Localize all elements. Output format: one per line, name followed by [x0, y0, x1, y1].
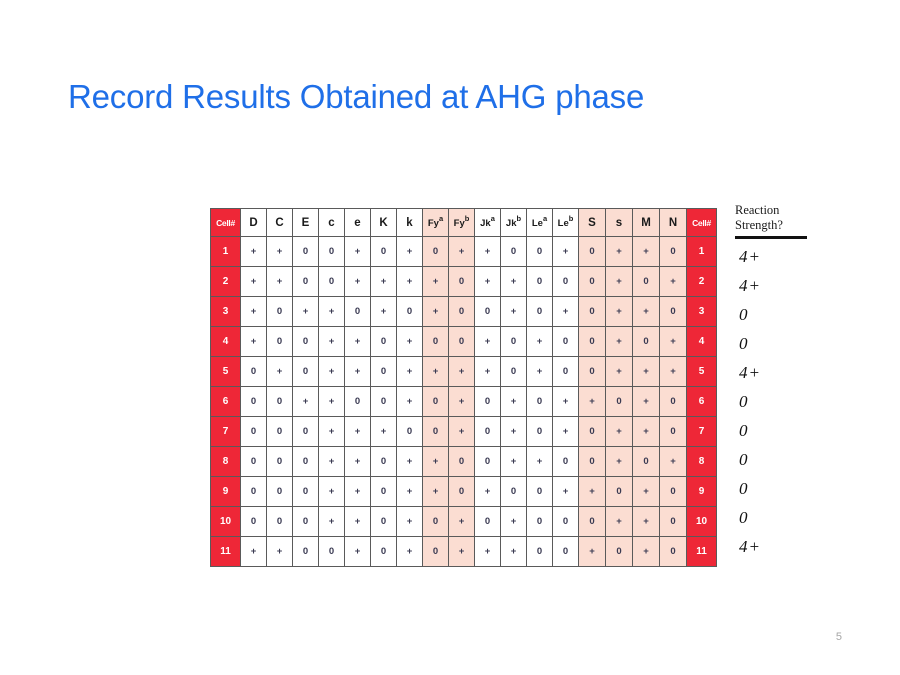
antigen-cell-c: 0: [319, 237, 345, 267]
row-cell-number-right: 7: [687, 417, 717, 447]
antigen-cell-M: 0: [633, 327, 660, 357]
table-row: 4+00++0+00+0+00+0+4: [211, 327, 717, 357]
antigen-cell-Lea: +: [527, 327, 553, 357]
antigen-cell-K: 0: [371, 237, 397, 267]
antigen-cell-Fyb: +: [449, 507, 475, 537]
antigen-cell-Fya: +: [423, 447, 449, 477]
antigen-cell-k: +: [397, 477, 423, 507]
antigen-cell-N: 0: [660, 507, 687, 537]
antigen-cell-Fyb: 0: [449, 327, 475, 357]
table-row: 10000++0+0+0+000++010: [211, 507, 717, 537]
antigen-cell-C: 0: [267, 387, 293, 417]
antigen-cell-S: +: [579, 387, 606, 417]
antigen-cell-Fyb: +: [449, 387, 475, 417]
antigen-cell-Jkb: 0: [501, 327, 527, 357]
antigen-cell-N: +: [660, 357, 687, 387]
antigen-cell-Jka: 0: [475, 417, 501, 447]
antigen-cell-k: +: [397, 267, 423, 297]
row-cell-number-right: 10: [687, 507, 717, 537]
antigen-cell-e: +: [345, 237, 371, 267]
column-header-M: M: [633, 209, 660, 237]
column-header-cellnum-left: Cell#: [211, 209, 241, 237]
column-header-K: K: [371, 209, 397, 237]
antigen-cell-Leb: +: [553, 417, 579, 447]
antigen-cell-N: 0: [660, 537, 687, 567]
reaction-values-list: 4+4+004+000004+: [735, 242, 843, 561]
row-cell-number-right: 3: [687, 297, 717, 327]
antigen-cell-Lea: 0: [527, 537, 553, 567]
antigen-cell-K: +: [371, 417, 397, 447]
reaction-strength-value: 4+: [735, 242, 843, 271]
antigen-cell-Fyb: +: [449, 417, 475, 447]
table-body: 1++00+0+0++00+0++012++00++++0++000+0+23+…: [211, 237, 717, 567]
antigen-cell-Leb: 0: [553, 327, 579, 357]
antigen-cell-Jka: +: [475, 237, 501, 267]
antigen-cell-k: +: [397, 357, 423, 387]
antigen-cell-Leb: 0: [553, 357, 579, 387]
reaction-strength-value: 0: [735, 445, 843, 474]
antigen-cell-D: 0: [241, 477, 267, 507]
row-cell-number-left: 6: [211, 387, 241, 417]
antigen-cell-k: +: [397, 237, 423, 267]
row-cell-number-left: 3: [211, 297, 241, 327]
antigen-cell-Fya: 0: [423, 237, 449, 267]
reaction-strength-value: 4+: [735, 271, 843, 300]
header-row: Cell#DCEceKkFyaFybJkaJkbLeaLebSsMNCell#: [211, 209, 717, 237]
antigen-cell-Jkb: +: [501, 297, 527, 327]
antigen-cell-Lea: +: [527, 447, 553, 477]
antigen-cell-Fya: +: [423, 297, 449, 327]
antigen-cell-S: +: [579, 477, 606, 507]
reaction-strength-value: 0: [735, 416, 843, 445]
antigen-cell-N: 0: [660, 387, 687, 417]
antigen-cell-Fyb: 0: [449, 267, 475, 297]
antigen-cell-k: +: [397, 507, 423, 537]
antigen-cell-C: 0: [267, 447, 293, 477]
antigen-cell-Jkb: +: [501, 387, 527, 417]
antigen-cell-E: 0: [293, 477, 319, 507]
column-header-e: e: [345, 209, 371, 237]
antigen-cell-M: +: [633, 477, 660, 507]
antigen-cell-E: 0: [293, 327, 319, 357]
antigen-cell-c: +: [319, 357, 345, 387]
table-header: Cell#DCEceKkFyaFybJkaJkbLeaLebSsMNCell#: [211, 209, 717, 237]
antigen-cell-e: +: [345, 537, 371, 567]
antigen-cell-D: +: [241, 297, 267, 327]
antigen-cell-M: 0: [633, 447, 660, 477]
antigen-cell-k: +: [397, 447, 423, 477]
antigen-cell-Fyb: +: [449, 537, 475, 567]
table-row: 2++00++++0++000+0+2: [211, 267, 717, 297]
antigen-cell-Fya: +: [423, 477, 449, 507]
antigen-cell-N: 0: [660, 417, 687, 447]
antigen-cell-s: 0: [606, 537, 633, 567]
antigen-cell-Jka: +: [475, 327, 501, 357]
antigen-cell-e: 0: [345, 387, 371, 417]
antigen-cell-E: 0: [293, 537, 319, 567]
antigen-cell-D: +: [241, 267, 267, 297]
antigen-cell-Leb: 0: [553, 507, 579, 537]
antigen-cell-Leb: 0: [553, 537, 579, 567]
antigen-cell-s: +: [606, 267, 633, 297]
table-row: 50+0++0++++0+00+++5: [211, 357, 717, 387]
antigen-cell-Lea: 0: [527, 387, 553, 417]
antigen-cell-c: 0: [319, 537, 345, 567]
reaction-header-line2: Strength?: [735, 218, 843, 233]
antigen-cell-s: 0: [606, 387, 633, 417]
reaction-strength-value: 4+: [735, 532, 843, 561]
table-row: 600++00+0+0+0++0+06: [211, 387, 717, 417]
row-cell-number-left: 11: [211, 537, 241, 567]
antigen-cell-Lea: 0: [527, 237, 553, 267]
column-header-s: s: [606, 209, 633, 237]
antigen-cell-Fya: 0: [423, 387, 449, 417]
antigen-cell-Jka: +: [475, 267, 501, 297]
antigen-cell-K: 0: [371, 327, 397, 357]
antigen-cell-Leb: 0: [553, 267, 579, 297]
antigen-cell-Jkb: +: [501, 447, 527, 477]
reaction-strength-column: Reaction Strength? 4+4+004+000004+: [735, 203, 843, 561]
column-header-Jka: Jka: [475, 209, 501, 237]
antigen-cell-N: +: [660, 267, 687, 297]
antigen-cell-k: +: [397, 387, 423, 417]
row-cell-number-left: 9: [211, 477, 241, 507]
antigen-cell-E: 0: [293, 237, 319, 267]
row-cell-number-right: 8: [687, 447, 717, 477]
antigen-cell-M: +: [633, 417, 660, 447]
page-number: 5: [836, 631, 842, 643]
antigen-cell-Fyb: +: [449, 237, 475, 267]
antigen-cell-M: +: [633, 387, 660, 417]
antigen-cell-s: 0: [606, 477, 633, 507]
slide-canvas: Record Results Obtained at AHG phase Cel…: [0, 0, 900, 675]
reaction-strength-value: 0: [735, 329, 843, 358]
antigen-cell-Jka: +: [475, 357, 501, 387]
antigen-cell-E: 0: [293, 267, 319, 297]
antigram-panel: Cell#DCEceKkFyaFybJkaJkbLeaLebSsMNCell# …: [210, 208, 843, 567]
antigen-cell-s: +: [606, 507, 633, 537]
table-row: 3+0++0+0+00+0+0++03: [211, 297, 717, 327]
reaction-strength-value: 4+: [735, 358, 843, 387]
antigen-cell-D: 0: [241, 507, 267, 537]
column-header-C: C: [267, 209, 293, 237]
table-row: 7000+++00+0+0+0++07: [211, 417, 717, 447]
antigen-cell-S: 0: [579, 357, 606, 387]
antigen-cell-C: +: [267, 537, 293, 567]
antigen-cell-N: +: [660, 447, 687, 477]
row-cell-number-left: 7: [211, 417, 241, 447]
antigram-table: Cell#DCEceKkFyaFybJkaJkbLeaLebSsMNCell# …: [210, 208, 717, 567]
antigen-cell-e: +: [345, 477, 371, 507]
antigen-cell-Fya: +: [423, 357, 449, 387]
antigen-cell-Jkb: +: [501, 507, 527, 537]
antigen-cell-Fyb: 0: [449, 297, 475, 327]
antigen-cell-E: +: [293, 387, 319, 417]
antigen-cell-C: +: [267, 357, 293, 387]
antigen-cell-Lea: 0: [527, 417, 553, 447]
antigen-cell-E: 0: [293, 357, 319, 387]
antigen-cell-e: +: [345, 447, 371, 477]
antigen-cell-E: 0: [293, 417, 319, 447]
antigen-cell-K: 0: [371, 477, 397, 507]
antigen-cell-k: 0: [397, 417, 423, 447]
antigen-cell-Fya: 0: [423, 417, 449, 447]
antigen-cell-c: 0: [319, 267, 345, 297]
antigen-cell-K: 0: [371, 357, 397, 387]
antigen-cell-K: +: [371, 267, 397, 297]
antigen-cell-S: 0: [579, 237, 606, 267]
antigen-cell-C: 0: [267, 297, 293, 327]
antigen-cell-e: +: [345, 267, 371, 297]
table-row: 8000++0++00++00+0+8: [211, 447, 717, 477]
column-header-N: N: [660, 209, 687, 237]
antigen-cell-K: 0: [371, 507, 397, 537]
antigen-cell-k: +: [397, 537, 423, 567]
reaction-strength-value: 0: [735, 387, 843, 416]
reaction-strength-header: Reaction Strength?: [735, 203, 843, 236]
antigen-cell-Lea: 0: [527, 297, 553, 327]
antigen-cell-K: 0: [371, 447, 397, 477]
antigen-cell-s: +: [606, 417, 633, 447]
table-row: 11++00+0+0+++00+0+011: [211, 537, 717, 567]
row-cell-number-right: 11: [687, 537, 717, 567]
antigen-cell-Jkb: 0: [501, 237, 527, 267]
antigen-cell-e: +: [345, 507, 371, 537]
row-cell-number-left: 8: [211, 447, 241, 477]
antigen-cell-E: +: [293, 297, 319, 327]
row-cell-number-left: 2: [211, 267, 241, 297]
antigen-cell-M: +: [633, 537, 660, 567]
antigen-cell-N: 0: [660, 297, 687, 327]
antigen-cell-D: 0: [241, 357, 267, 387]
antigen-cell-s: +: [606, 447, 633, 477]
reaction-header-underline: [735, 236, 807, 239]
antigen-cell-D: 0: [241, 417, 267, 447]
antigen-cell-Lea: 0: [527, 267, 553, 297]
antigen-cell-k: +: [397, 327, 423, 357]
antigen-cell-K: +: [371, 297, 397, 327]
antigen-cell-K: 0: [371, 387, 397, 417]
antigen-cell-E: 0: [293, 447, 319, 477]
antigen-cell-Jka: 0: [475, 387, 501, 417]
antigen-cell-c: +: [319, 387, 345, 417]
antigen-cell-Jka: 0: [475, 297, 501, 327]
antigen-cell-Leb: +: [553, 387, 579, 417]
row-cell-number-left: 4: [211, 327, 241, 357]
column-header-k: k: [397, 209, 423, 237]
antigen-cell-C: +: [267, 267, 293, 297]
antigen-cell-D: +: [241, 537, 267, 567]
antigen-cell-s: +: [606, 327, 633, 357]
antigen-cell-Leb: +: [553, 297, 579, 327]
row-cell-number-right: 4: [687, 327, 717, 357]
antigen-cell-Fya: 0: [423, 327, 449, 357]
column-header-S: S: [579, 209, 606, 237]
antigen-cell-k: 0: [397, 297, 423, 327]
column-header-Fya: Fya: [423, 209, 449, 237]
antigen-cell-M: +: [633, 507, 660, 537]
column-header-D: D: [241, 209, 267, 237]
page-title: Record Results Obtained at AHG phase: [68, 78, 644, 116]
antigen-cell-c: +: [319, 507, 345, 537]
antigen-cell-e: 0: [345, 297, 371, 327]
antigen-cell-S: 0: [579, 507, 606, 537]
antigen-cell-S: 0: [579, 267, 606, 297]
antigen-cell-M: +: [633, 357, 660, 387]
antigen-cell-S: 0: [579, 417, 606, 447]
column-header-c: c: [319, 209, 345, 237]
column-header-cellnum-right: Cell#: [687, 209, 717, 237]
antigen-cell-M: 0: [633, 267, 660, 297]
antigen-cell-Jkb: 0: [501, 357, 527, 387]
antigen-cell-C: 0: [267, 327, 293, 357]
column-header-Fyb: Fyb: [449, 209, 475, 237]
reaction-strength-value: 0: [735, 474, 843, 503]
antigen-cell-C: 0: [267, 417, 293, 447]
antigen-cell-N: +: [660, 327, 687, 357]
antigen-cell-s: +: [606, 297, 633, 327]
antigen-cell-Jkb: 0: [501, 477, 527, 507]
antigen-cell-C: 0: [267, 507, 293, 537]
antigen-cell-C: 0: [267, 477, 293, 507]
antigen-cell-Fyb: 0: [449, 477, 475, 507]
reaction-strength-value: 0: [735, 300, 843, 329]
column-header-E: E: [293, 209, 319, 237]
antigen-cell-Lea: 0: [527, 507, 553, 537]
antigen-cell-Lea: 0: [527, 477, 553, 507]
antigen-cell-D: +: [241, 237, 267, 267]
antigen-cell-E: 0: [293, 507, 319, 537]
row-cell-number-right: 1: [687, 237, 717, 267]
column-header-Lea: Lea: [527, 209, 553, 237]
antigen-cell-M: +: [633, 237, 660, 267]
antigen-cell-C: +: [267, 237, 293, 267]
row-cell-number-right: 5: [687, 357, 717, 387]
antigen-cell-K: 0: [371, 537, 397, 567]
antigen-cell-Jka: 0: [475, 507, 501, 537]
antigen-cell-Jkb: +: [501, 267, 527, 297]
antigen-cell-S: 0: [579, 447, 606, 477]
antigen-cell-c: +: [319, 327, 345, 357]
table-row: 9000++0++0+00++0+09: [211, 477, 717, 507]
column-header-Jkb: Jkb: [501, 209, 527, 237]
antigen-cell-Leb: +: [553, 237, 579, 267]
row-cell-number-right: 9: [687, 477, 717, 507]
antigen-cell-c: +: [319, 477, 345, 507]
antigen-cell-S: 0: [579, 327, 606, 357]
antigen-cell-c: +: [319, 297, 345, 327]
antigen-cell-Lea: +: [527, 357, 553, 387]
column-header-Leb: Leb: [553, 209, 579, 237]
antigen-cell-D: 0: [241, 447, 267, 477]
antigen-cell-Jka: 0: [475, 447, 501, 477]
reaction-header-line1: Reaction: [735, 203, 843, 218]
antigen-cell-Jka: +: [475, 537, 501, 567]
antigen-cell-e: +: [345, 417, 371, 447]
antigen-cell-D: +: [241, 327, 267, 357]
antigen-cell-e: +: [345, 357, 371, 387]
antigen-cell-Fya: 0: [423, 537, 449, 567]
row-cell-number-right: 2: [687, 267, 717, 297]
antigen-cell-M: +: [633, 297, 660, 327]
antigen-cell-Fya: 0: [423, 507, 449, 537]
table-row: 1++00+0+0++00+0++01: [211, 237, 717, 267]
reaction-strength-value: 0: [735, 503, 843, 532]
antigen-cell-Fya: +: [423, 267, 449, 297]
antigen-cell-s: +: [606, 357, 633, 387]
row-cell-number-right: 6: [687, 387, 717, 417]
antigen-cell-N: 0: [660, 477, 687, 507]
antigen-cell-Jka: +: [475, 477, 501, 507]
antigen-cell-s: +: [606, 237, 633, 267]
antigen-cell-c: +: [319, 447, 345, 477]
antigen-cell-Fyb: +: [449, 357, 475, 387]
antigen-cell-Jkb: +: [501, 417, 527, 447]
antigen-cell-N: 0: [660, 237, 687, 267]
antigen-cell-Jkb: +: [501, 537, 527, 567]
row-cell-number-left: 10: [211, 507, 241, 537]
antigen-cell-e: +: [345, 327, 371, 357]
row-cell-number-left: 5: [211, 357, 241, 387]
antigen-cell-Fyb: 0: [449, 447, 475, 477]
antigen-cell-Leb: +: [553, 477, 579, 507]
antigen-cell-S: 0: [579, 297, 606, 327]
antigen-cell-Leb: 0: [553, 447, 579, 477]
antigen-cell-c: +: [319, 417, 345, 447]
antigen-cell-S: +: [579, 537, 606, 567]
row-cell-number-left: 1: [211, 237, 241, 267]
antigen-cell-D: 0: [241, 387, 267, 417]
